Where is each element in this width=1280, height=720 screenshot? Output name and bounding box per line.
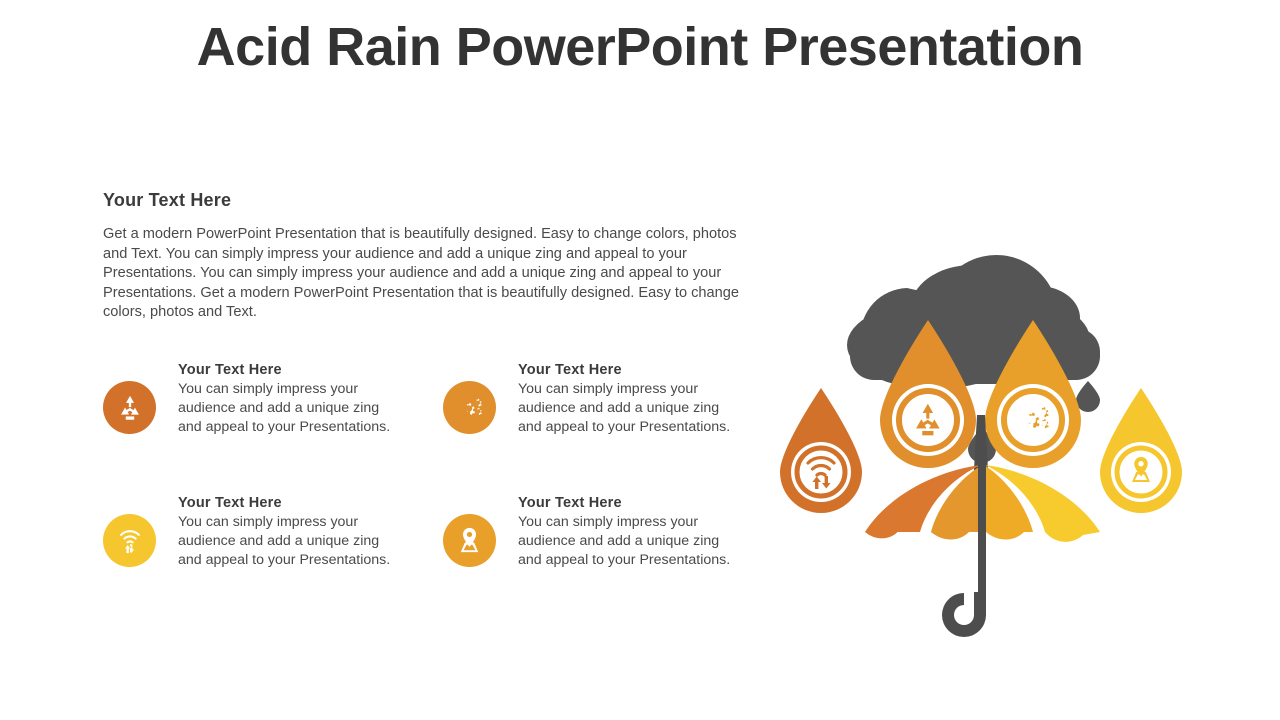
feature-title: Your Text Here <box>518 362 733 378</box>
feature-item-map-pin[interactable]: Your Text Here You can simply impress yo… <box>443 495 783 571</box>
recycle-icon <box>103 381 156 434</box>
gears-icon <box>443 381 496 434</box>
map-pin-icon <box>443 514 496 567</box>
feature-body: You can simply impress your audience and… <box>518 513 733 571</box>
feature-item-gears[interactable]: Your Text Here You can simply impress yo… <box>443 362 783 438</box>
feature-item-wifi[interactable]: Your Text Here You can simply impress yo… <box>103 495 443 571</box>
feature-title: Your Text Here <box>518 495 733 511</box>
intro-block: Your Text Here Get a modern PowerPoint P… <box>103 190 763 323</box>
feature-title: Your Text Here <box>178 362 393 378</box>
droplet-map-pin <box>1100 388 1182 513</box>
feature-row: Your Text Here You can simply impress yo… <box>103 362 783 438</box>
feature-body: You can simply impress your audience and… <box>178 513 393 571</box>
feature-text: Your Text Here You can simply impress yo… <box>178 362 393 438</box>
feature-text: Your Text Here You can simply impress yo… <box>518 362 733 438</box>
acid-rain-umbrella-graphic <box>760 160 1220 660</box>
feature-grid: Your Text Here You can simply impress yo… <box>103 362 783 627</box>
droplet-wifi-transfer <box>780 388 862 513</box>
feature-row: Your Text Here You can simply impress yo… <box>103 495 783 571</box>
feature-body: You can simply impress your audience and… <box>178 380 393 438</box>
intro-paragraph: Get a modern PowerPoint Presentation tha… <box>103 225 758 323</box>
feature-text: Your Text Here You can simply impress yo… <box>518 495 733 571</box>
feature-title: Your Text Here <box>178 495 393 511</box>
intro-heading: Your Text Here <box>103 190 763 211</box>
page-title: Acid Rain PowerPoint Presentation <box>0 18 1280 77</box>
feature-item-recycle[interactable]: Your Text Here You can simply impress yo… <box>103 362 443 438</box>
wifi-transfer-icon <box>103 514 156 567</box>
feature-text: Your Text Here You can simply impress yo… <box>178 495 393 571</box>
feature-body: You can simply impress your audience and… <box>518 380 733 438</box>
